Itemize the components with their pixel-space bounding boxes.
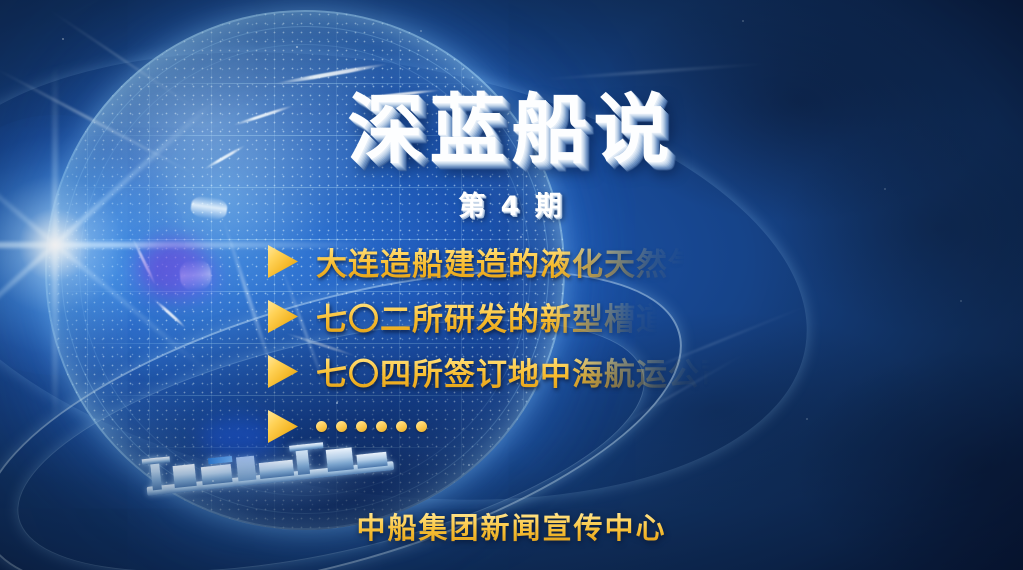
ellipsis-icon [316,421,427,432]
play-triangle-icon [268,355,298,388]
headline-text: 七〇四所签订地中海航运公司 [316,349,732,394]
footer-credit: 中船集团新闻宣传中心 [0,505,1023,547]
play-triangle-icon [268,410,298,443]
program-title: 深蓝船说 [0,92,1023,168]
headline-list: 大连造船建造的液化天然气 七〇二所研发的新型槽道 七〇四所签订地中海航运公司 [268,234,788,454]
list-item: 大连造船建造的液化天然气 [268,234,788,289]
play-triangle-icon [268,300,298,333]
list-item: 七〇二所研发的新型槽道 [268,289,788,344]
list-item: 七〇四所签订地中海航运公司 [268,344,788,399]
episode-label: 第 4 期 [0,184,1023,223]
headline-text: 大连造船建造的液化天然气 [316,239,700,284]
play-triangle-icon [268,245,298,278]
list-item [268,399,788,454]
video-frame: 深蓝船说 第 4 期 大连造船建造的液化天然气 七〇二所研发的新型槽道 七〇四所… [0,0,1023,570]
text-content-layer: 深蓝船说 第 4 期 大连造船建造的液化天然气 七〇二所研发的新型槽道 七〇四所… [0,0,1023,570]
headline-text: 七〇二所研发的新型槽道 [316,294,668,339]
